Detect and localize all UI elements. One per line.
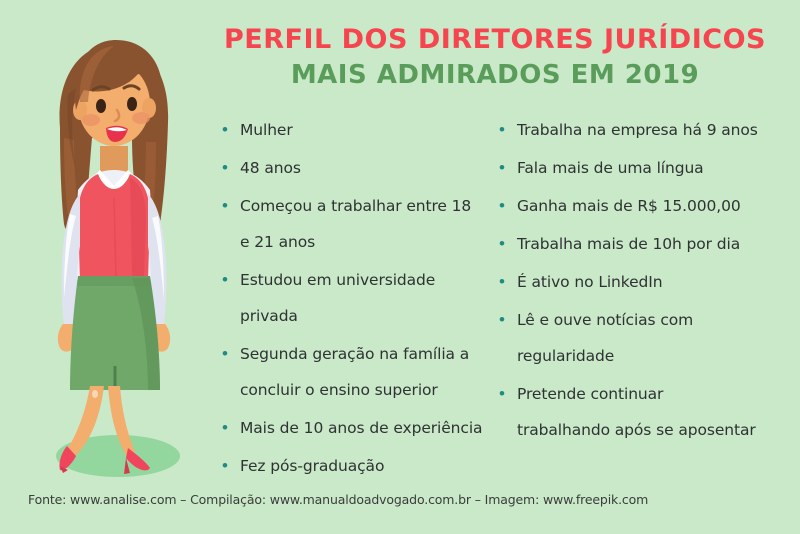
page-title-primary: PERFIL DOS DIRETORES JURÍDICOS (205, 24, 785, 56)
bullet-icon: • (218, 112, 240, 148)
bullet-icon: • (495, 226, 517, 262)
list-item-label: Ganha mais de R$ 15.000,00 (517, 188, 760, 224)
bullet-icon: • (495, 112, 517, 148)
list-item-label: Trabalha na empresa há 9 anos (517, 112, 760, 148)
list-item: • Mulher (218, 112, 483, 148)
bullet-icon: • (495, 188, 517, 224)
bullet-icon: • (495, 264, 517, 300)
infographic-canvas: PERFIL DOS DIRETORES JURÍDICOS MAIS ADMI… (0, 0, 800, 534)
eye-right (127, 97, 137, 111)
left-bullet-column: • Mulher • 48 anos • Começou a trabalhar… (218, 112, 483, 486)
list-item-label: Fez pós-graduação (240, 448, 483, 484)
page-title-secondary: MAIS ADMIRADOS EM 2019 (205, 59, 785, 92)
list-item-label: Fala mais de uma língua (517, 150, 760, 186)
list-item-label: Segunda geração na família a concluir o … (240, 336, 483, 408)
title-block: PERFIL DOS DIRETORES JURÍDICOS MAIS ADMI… (205, 24, 785, 92)
list-item: • Mais de 10 anos de experiência (218, 410, 483, 446)
list-item: • Fala mais de uma língua (495, 150, 760, 186)
bullet-icon: • (218, 188, 240, 224)
list-item-label: 48 anos (240, 150, 483, 186)
list-item: • Ganha mais de R$ 15.000,00 (495, 188, 760, 224)
list-item: • É ativo no LinkedIn (495, 264, 760, 300)
source-footer: Fonte: www.analise.com – Compilação: www… (28, 492, 778, 507)
list-item-label: Trabalha mais de 10h por dia (517, 226, 760, 262)
right-bullet-column: • Trabalha na empresa há 9 anos • Fala m… (495, 112, 760, 486)
list-item-label: Mais de 10 anos de experiência (240, 410, 483, 446)
list-item: • Começou a trabalhar entre 18 e 21 anos (218, 188, 483, 260)
eye-left (96, 99, 106, 113)
cheek-left (82, 114, 100, 126)
list-item-label: É ativo no LinkedIn (517, 264, 760, 300)
list-item-label: Lê e ouve notícias com regularidade (517, 302, 760, 374)
bullet-icon: • (218, 410, 240, 446)
list-item: • Fez pós-graduação (218, 448, 483, 484)
list-item: • Estudou em universidade privada (218, 262, 483, 334)
bullet-icon: • (495, 302, 517, 338)
bullet-icon: • (218, 336, 240, 372)
list-item-label: Pretende continuar trabalhando após se a… (517, 376, 760, 448)
knee-highlight-left (92, 390, 98, 398)
list-item: • Trabalha na empresa há 9 anos (495, 112, 760, 148)
skirt-waistband (77, 276, 151, 286)
bullet-icon: • (218, 150, 240, 186)
bullet-icon: • (218, 262, 240, 298)
bullet-icon: • (495, 150, 517, 186)
list-item: • Lê e ouve notícias com regularidade (495, 302, 760, 374)
bullet-icon: • (495, 376, 517, 412)
list-item-label: Estudou em universidade privada (240, 262, 483, 334)
bullet-columns: • Mulher • 48 anos • Começou a trabalhar… (218, 112, 788, 486)
list-item: • Pretende continuar trabalhando após se… (495, 376, 760, 448)
list-item-label: Começou a trabalhar entre 18 e 21 anos (240, 188, 483, 260)
list-item-label: Mulher (240, 112, 483, 148)
list-item: • 48 anos (218, 150, 483, 186)
cheek-right (132, 112, 150, 124)
list-item: • Segunda geração na família a concluir … (218, 336, 483, 408)
woman-illustration (20, 18, 210, 488)
bullet-icon: • (218, 448, 240, 484)
list-item: • Trabalha mais de 10h por dia (495, 226, 760, 262)
